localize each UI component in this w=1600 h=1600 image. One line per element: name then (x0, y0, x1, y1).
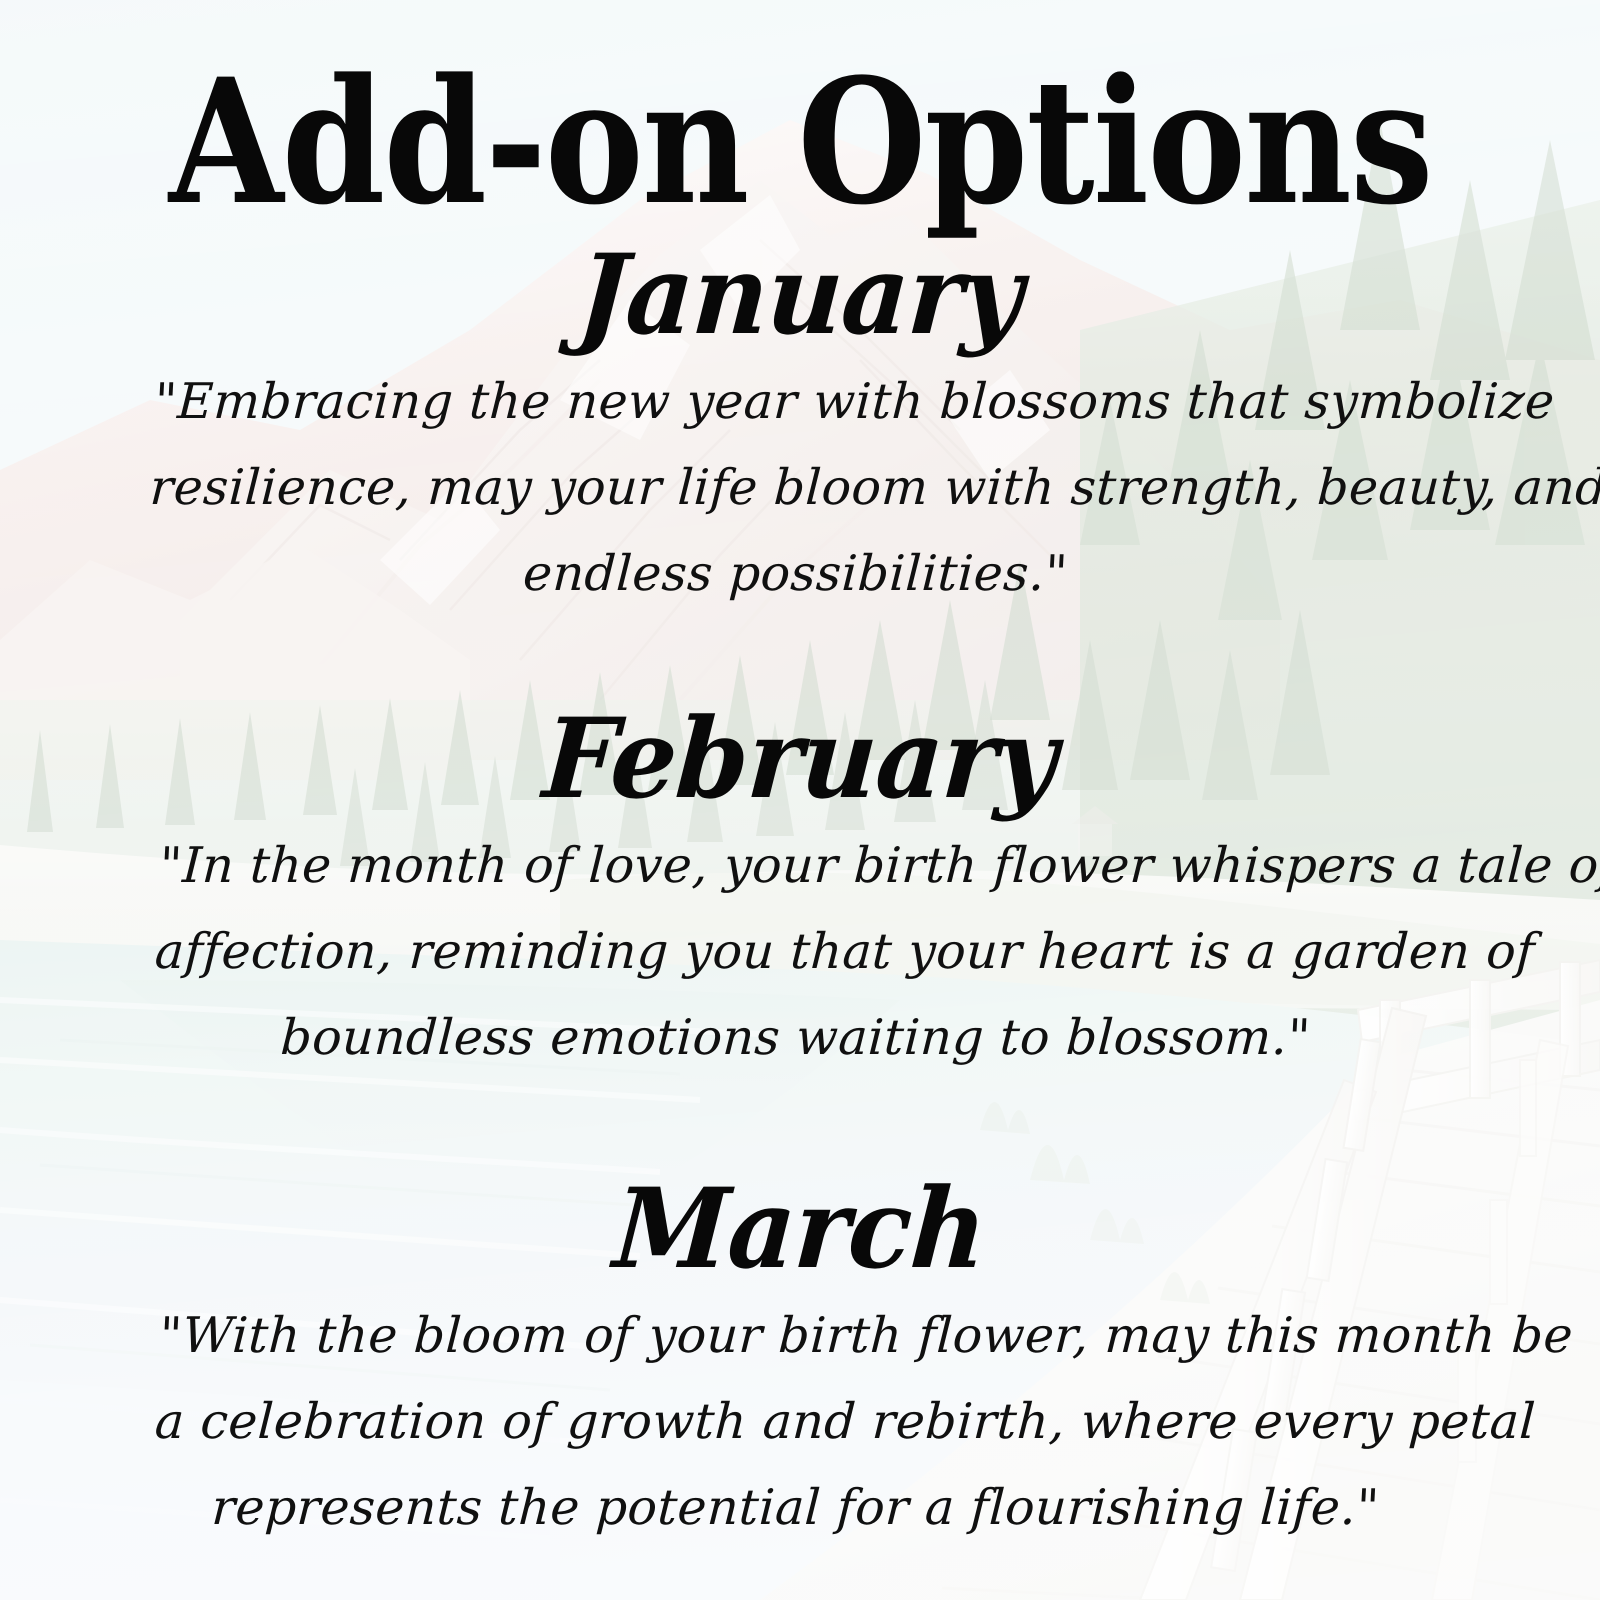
month-heading-february: February (0, 701, 1600, 817)
quote-line: affection, reminding you that your heart… (153, 909, 1448, 995)
month-section-february: February "In the month of love, your bir… (0, 704, 1600, 1082)
month-heading-march: March (0, 1171, 1600, 1287)
quote-line: endless possibilities." (143, 532, 1448, 618)
quote-line: boundless emotions waiting to blossom." (148, 996, 1443, 1082)
month-quote-february: "In the month of love, your birth flower… (148, 823, 1452, 1082)
quote-line: a celebration of growth and rebirth, whe… (153, 1379, 1448, 1465)
month-section-march: March "With the bloom of your birth flow… (0, 1174, 1600, 1552)
quote-line: represents the potential for a flourishi… (148, 1465, 1443, 1551)
poster-content: Add-on Options January "Embracing the ne… (0, 0, 1600, 1600)
quote-line: "With the bloom of your birth flower, ma… (157, 1293, 1452, 1379)
month-quote-january: "Embracing the new year with blossoms th… (143, 359, 1457, 618)
quote-line: "Embracing the new year with blossoms th… (152, 359, 1457, 445)
month-section-january: January "Embracing the new year with blo… (0, 240, 1600, 618)
month-heading-january: January (0, 237, 1600, 353)
quote-line: resilience, may your life bloom with str… (148, 445, 1453, 531)
page-title: Add-on Options (169, 56, 1432, 228)
month-quote-march: "With the bloom of your birth flower, ma… (148, 1293, 1452, 1552)
quote-line: "In the month of love, your birth flower… (157, 823, 1452, 909)
poster-canvas: Add-on Options January "Embracing the ne… (0, 0, 1600, 1600)
